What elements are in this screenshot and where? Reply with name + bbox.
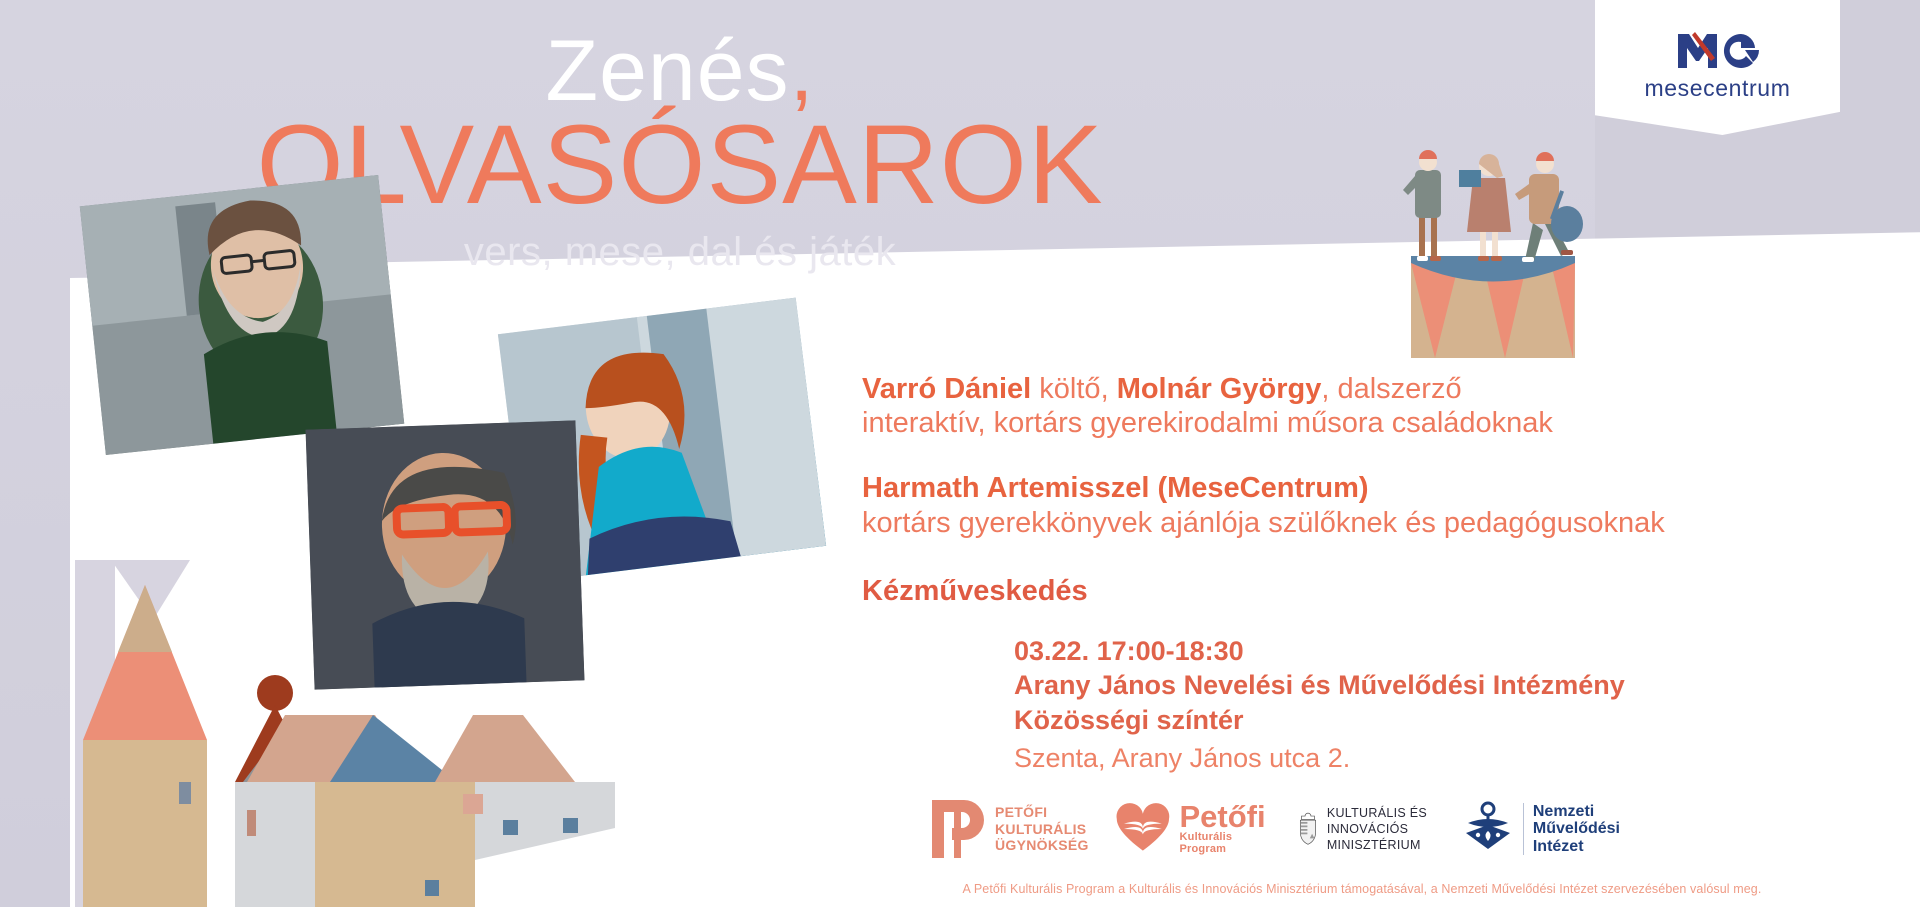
houses-illustration (75, 560, 615, 907)
pku-wordmark: PETŐFI KULTURÁLIS ÜGYNÖKSÉG (995, 804, 1089, 854)
logo-divider (1523, 803, 1524, 855)
kim-line-1: KULTURÁLIS ÉS INNOVÁCIÓS (1327, 805, 1436, 838)
event-address: Szenta, Arany János utca 2. (1014, 741, 1842, 776)
event-details-block: Varró Dániel költő, Molnár György, dalsz… (862, 372, 1842, 776)
performer-role-molnar: , dalszerző (1321, 373, 1461, 405)
event-logistics: 03.22. 17:00-18:30 Arany János Nevelési … (1014, 634, 1842, 777)
performer-name-harmath: Harmath Artemisszel (MeseCentrum) (862, 471, 1842, 506)
performer-block-2: Harmath Artemisszel (MeseCentrum) kortár… (862, 471, 1842, 541)
petofi-wordmark: Petőfi (1180, 803, 1272, 831)
performer-description-1: interaktív, kortárs gyerekirodalmi műsor… (862, 406, 1842, 441)
mesecentrum-wordmark: mesecentrum (1595, 75, 1840, 102)
portrait-varro-daniel (80, 175, 404, 455)
logo-petofi-kulturalis-program: Petőfi Kulturális Program (1115, 803, 1272, 855)
pku-line-2: KULTURÁLIS (995, 821, 1089, 838)
mc-logo-icon (1675, 28, 1761, 70)
performer-description-2: kortárs gyerekkönyvek ajánlója szülőknek… (862, 506, 1842, 541)
nmi-mark-icon (1462, 801, 1514, 857)
kim-wordmark: KULTURÁLIS ÉS INNOVÁCIÓS MINISZTÉRIUM (1327, 805, 1436, 854)
nmi-line-1: Nemzeti (1533, 803, 1620, 821)
hungary-coat-of-arms-icon (1298, 801, 1318, 857)
footnote-text: A Petőfi Kulturális Program a Kulturális… (862, 882, 1862, 896)
kim-line-2: MINISZTÉRIUM (1327, 837, 1436, 853)
logo-nemzeti-muvelodesi-intezet: Nemzeti Művelődési Intézet (1462, 801, 1620, 857)
nmi-line-2: Művelődési (1533, 820, 1620, 838)
event-venue-line1: Arany János Nevelési és Művelődési Intéz… (1014, 668, 1842, 703)
pku-mark-icon (930, 798, 986, 860)
nmi-line-3: Intézet (1533, 838, 1620, 856)
sponsor-logo-row: PETŐFI KULTURÁLIS ÜGYNÖKSÉG Petőfi Kultu… (930, 790, 1620, 868)
performer-role-varro: költő, (1031, 373, 1116, 405)
activity-label: Kézműveskedés (862, 575, 1842, 608)
logo-kulturalis-innovacios-miniszterium: KULTURÁLIS ÉS INNOVÁCIÓS MINISZTÉRIUM (1298, 801, 1436, 857)
mesecentrum-logo-card: mesecentrum (1595, 0, 1840, 135)
pku-line-3: ÜGYNÖKSÉG (995, 837, 1089, 854)
performer-name-molnar: Molnár György (1117, 373, 1322, 405)
event-datetime: 03.22. 17:00-18:30 (1014, 634, 1842, 669)
poster-canvas: mesecentrum Zenés, OLVASÓSAROK vers, mes… (0, 0, 1920, 907)
performer-line-1: Varró Dániel költő, Molnár György, dalsz… (862, 372, 1842, 406)
performer-block-1: Varró Dániel költő, Molnár György, dalsz… (862, 372, 1842, 441)
performer-name-varro: Varró Dániel (862, 373, 1031, 405)
logo-petofi-kulturalis-ugynokseg: PETŐFI KULTURÁLIS ÜGYNÖKSÉG (930, 798, 1089, 860)
event-venue-line2: Közösségi színtér (1014, 703, 1842, 738)
stage-illustration (1375, 128, 1610, 363)
pku-line-1: PETŐFI (995, 804, 1089, 821)
petofi-subtitle: Kulturális Program (1180, 831, 1272, 855)
nmi-wordmark: Nemzeti Művelődési Intézet (1533, 803, 1620, 856)
heart-book-icon (1115, 803, 1171, 855)
